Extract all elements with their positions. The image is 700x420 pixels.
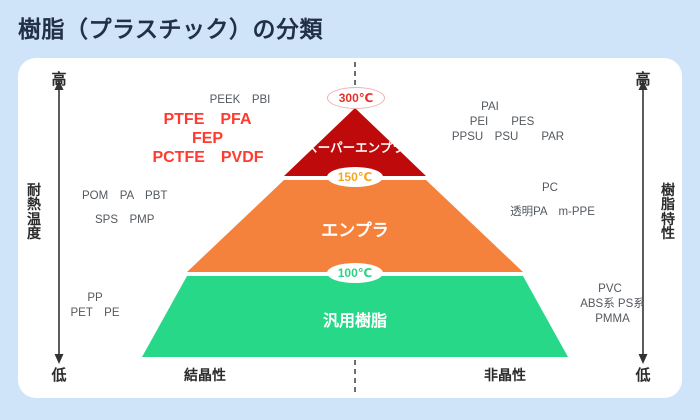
materials-eng-crystalline-2: SPS PMP bbox=[95, 212, 154, 229]
materials-eng-amorphous-1: PC bbox=[520, 180, 580, 197]
left-axis-low-label: 低 bbox=[44, 364, 74, 385]
materials-eng-amorphous-2: 透明PA m-PPE bbox=[495, 204, 610, 221]
materials-super-crystalline-gray: PEEK PBI bbox=[180, 92, 300, 109]
materials-super-crystalline-red-3: PCTFE PVDF bbox=[133, 148, 283, 168]
right-axis-high-label: 高 bbox=[628, 68, 658, 89]
page-root: 樹脂（プラスチック）の分類 高 耐熱温度 低 高 樹脂特性 低 結晶性 bbox=[0, 0, 700, 420]
materials-eng-crystalline-1: POM PA PBT bbox=[82, 188, 167, 205]
bottom-category-amorphous: 非晶性 bbox=[465, 365, 545, 385]
tier-label-general: 汎用樹脂 bbox=[305, 307, 405, 331]
temperature-badge-300: 300℃ bbox=[327, 87, 385, 109]
tier-label-super: スーパーエンプラ bbox=[300, 137, 410, 156]
materials-gen-crystalline-2: PET PE bbox=[55, 305, 135, 322]
right-axis-name: 樹脂特性 bbox=[659, 183, 677, 241]
materials-super-crystalline-red-2: FEP bbox=[140, 129, 275, 149]
temperature-badge-150: 150℃ bbox=[327, 167, 383, 187]
materials-super-amorphous-3: PPSU PSU PAR bbox=[428, 129, 588, 146]
bottom-category-crystalline: 結晶性 bbox=[165, 365, 245, 385]
right-axis-low-label: 低 bbox=[628, 364, 658, 385]
temperature-badge-100: 100℃ bbox=[327, 263, 383, 283]
materials-gen-amorphous-3: PMMA bbox=[585, 311, 640, 328]
left-axis-name: 耐熱温度 bbox=[25, 183, 43, 241]
materials-super-crystalline-red-1: PTFE PFA bbox=[140, 110, 275, 130]
left-axis-high-label: 高 bbox=[44, 68, 74, 89]
tier-label-engineering: エンプラ bbox=[305, 216, 405, 241]
